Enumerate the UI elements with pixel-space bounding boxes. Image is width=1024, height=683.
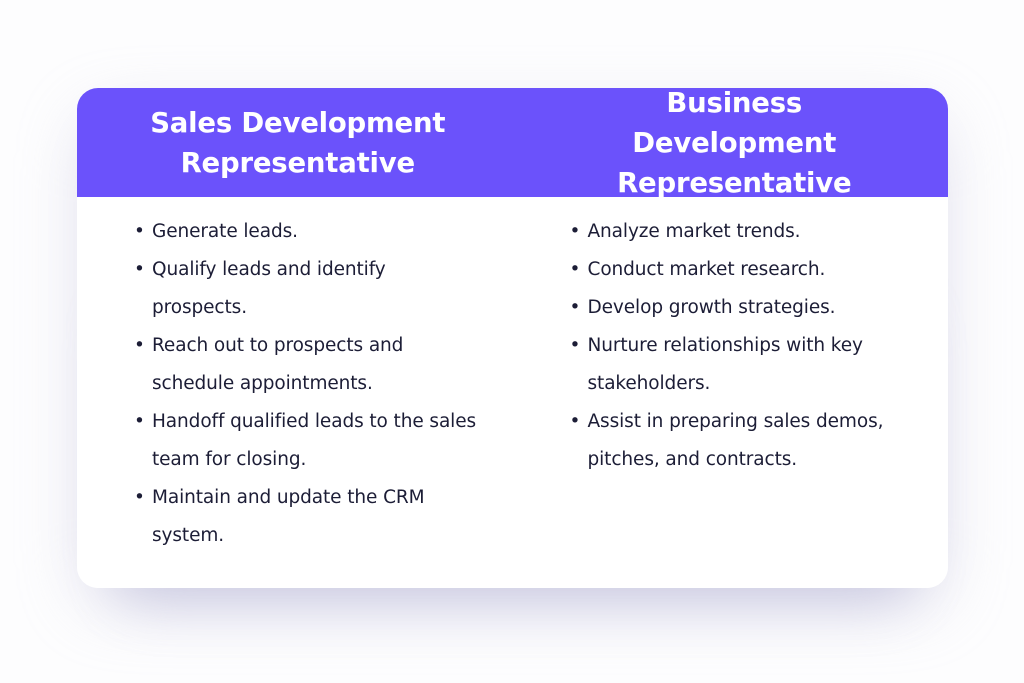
list-item: Maintain and update the CRM system. [134, 479, 482, 555]
comparison-card-header: Sales Development Representative Busines… [77, 88, 948, 197]
list-item: Assist in preparing sales demos, pitches… [570, 403, 930, 479]
responsibility-list-sdr: Generate leads. Qualify leads and identi… [134, 213, 503, 555]
header-cell-sdr: Sales Development Representative [77, 88, 513, 197]
column-title-bdr: Business Development Representative [569, 88, 899, 203]
comparison-card-body: Generate leads. Qualify leads and identi… [77, 197, 948, 588]
list-item: Reach out to prospects and schedule appo… [134, 327, 482, 403]
list-item: Nurture relationships with key stakehold… [570, 327, 930, 403]
responsibility-list-bdr: Analyze market trends. Conduct market re… [570, 213, 937, 479]
list-item: Develop growth strategies. [570, 289, 930, 327]
list-item: Qualify leads and identify prospects. [134, 251, 482, 327]
header-cell-bdr: Business Development Representative [513, 88, 949, 197]
list-item: Handoff qualified leads to the sales tea… [134, 403, 482, 479]
list-item: Analyze market trends. [570, 213, 930, 251]
body-cell-sdr: Generate leads. Qualify leads and identi… [77, 213, 513, 588]
column-title-sdr: Sales Development Representative [133, 103, 463, 183]
body-cell-bdr: Analyze market trends. Conduct market re… [513, 213, 949, 588]
list-item: Conduct market research. [570, 251, 930, 289]
list-item: Generate leads. [134, 213, 482, 251]
comparison-card: Sales Development Representative Busines… [77, 88, 948, 588]
comparison-card-stage: Sales Development Representative Busines… [0, 0, 1024, 683]
